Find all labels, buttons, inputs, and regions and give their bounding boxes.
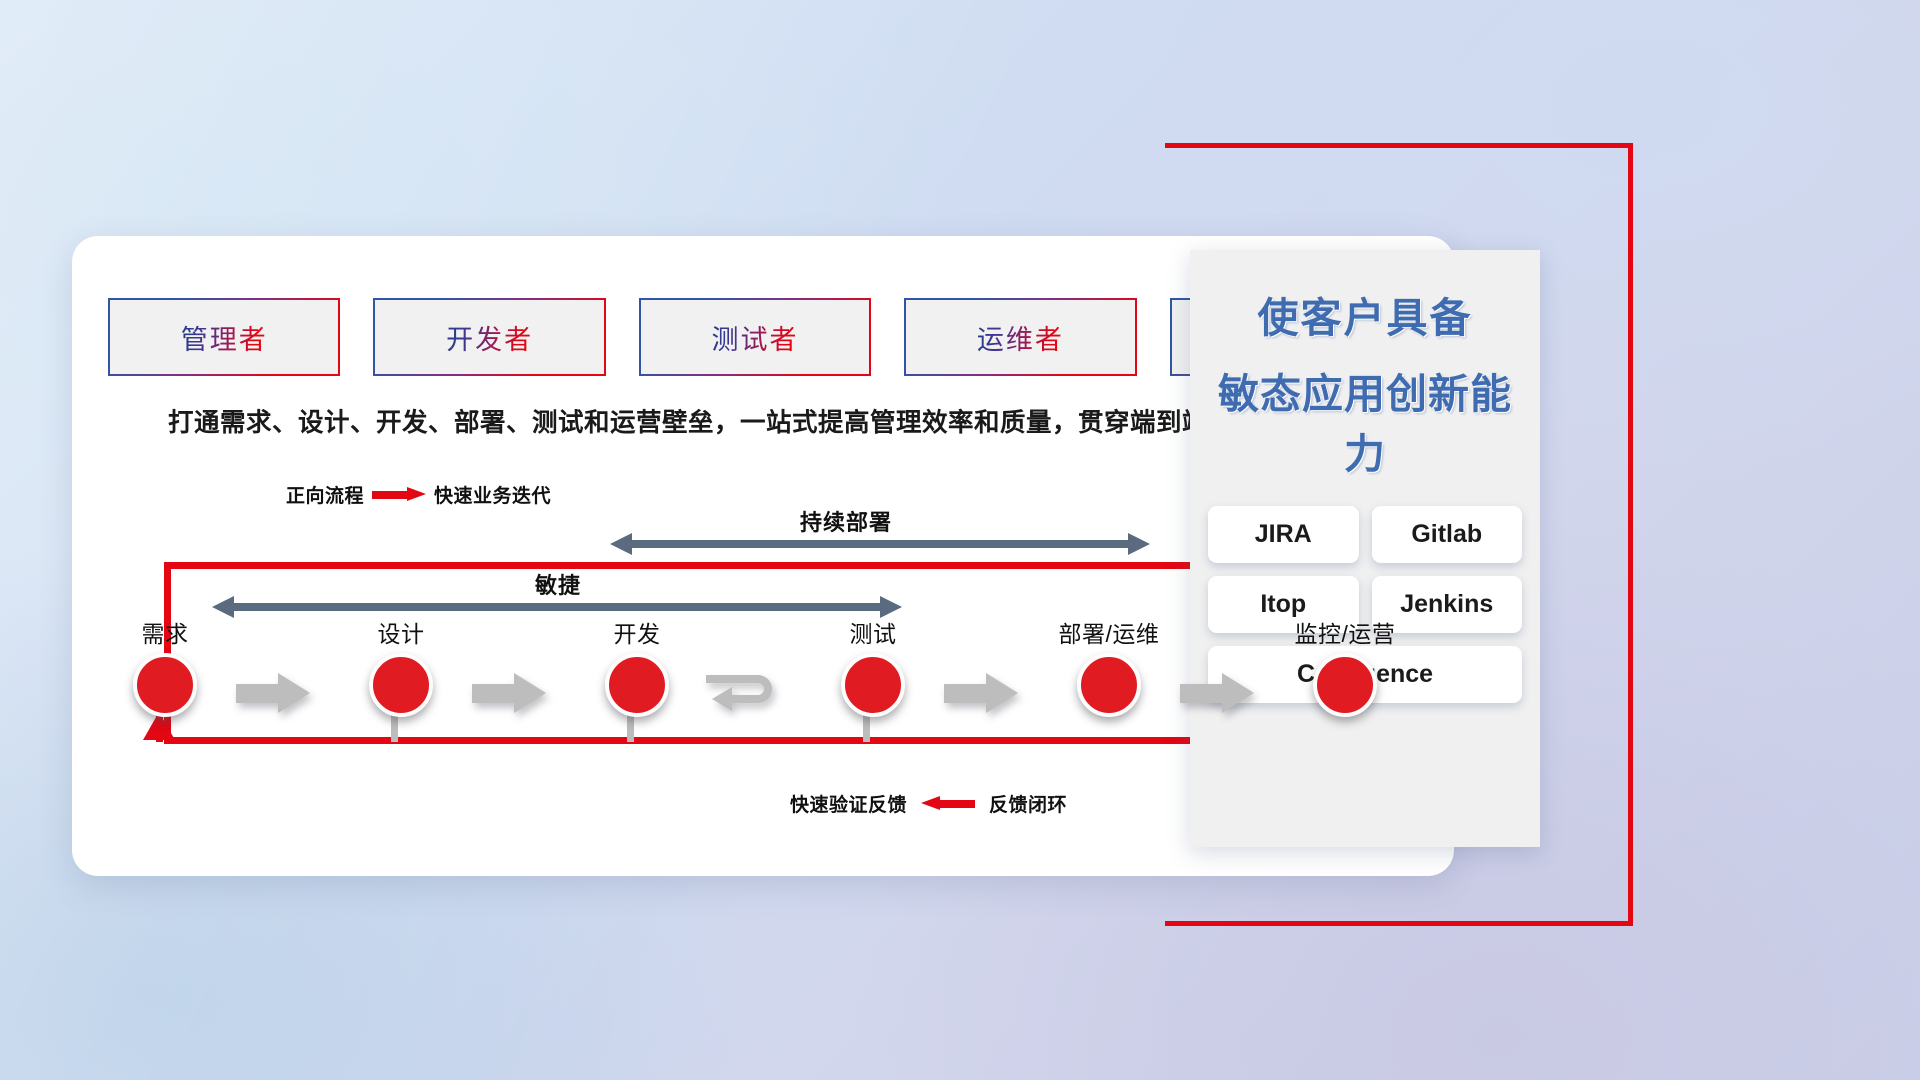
pipeline-node-1[interactable]: 设计 — [346, 615, 456, 717]
pipeline-connector-1 — [472, 673, 546, 713]
tool-chip-gitlab[interactable]: Gitlab — [1372, 506, 1523, 563]
role-label: 运维者 — [977, 318, 1064, 357]
feedback-right-label: 反馈闭环 — [989, 790, 1067, 817]
gray-arrow-right-icon — [1180, 673, 1254, 713]
role-box-3[interactable]: 运维者 — [906, 300, 1134, 374]
devops-pipeline: 需求 设计 开发 测试 部署/运维 — [110, 615, 1400, 735]
pipeline-node-dot — [369, 653, 433, 717]
pipeline-node-label: 设计 — [346, 615, 456, 649]
gray-loop-arrow-icon — [702, 661, 786, 717]
pipeline-node-0[interactable]: 需求 — [110, 615, 220, 717]
pipeline-node-label: 监控/运营 — [1290, 615, 1400, 649]
gray-arrow-right-icon — [472, 673, 546, 713]
pipeline-node-3[interactable]: 测试 — [818, 615, 928, 717]
pipeline-node-4[interactable]: 部署/运维 — [1054, 615, 1164, 717]
pipeline-node-label: 开发 — [582, 615, 692, 649]
pipeline-node-label: 需求 — [110, 615, 220, 649]
value-proposition-panel: 使客户具备 敏态应用创新能力 JIRA Gitlab Itop Jenkins … — [1190, 250, 1540, 847]
role-label: 测试者 — [712, 318, 799, 357]
pipeline-node-label: 部署/运维 — [1054, 615, 1164, 649]
role-label: 管理者 — [181, 318, 268, 357]
role-label: 开发者 — [446, 318, 533, 357]
pipeline-node-2[interactable]: 开发 — [582, 615, 692, 717]
pipeline-node-dot — [1077, 653, 1141, 717]
pipeline-node-label: 测试 — [818, 615, 928, 649]
pipeline-node-dot — [133, 653, 197, 717]
forward-flow-right-label: 快速业务迭代 — [434, 481, 551, 508]
pipeline-connector-4 — [1180, 673, 1254, 713]
gray-arrow-right-icon — [236, 673, 310, 713]
forward-flow-left-label: 正向流程 — [286, 481, 364, 508]
span-arrow-continuous-deploy — [610, 533, 1150, 555]
panel-title-line1: 使客户具备 — [1208, 284, 1522, 344]
red-arrow-left-icon — [921, 796, 975, 811]
tool-chip-jira[interactable]: JIRA — [1208, 506, 1359, 563]
pipeline-node-dot — [1313, 653, 1377, 717]
gray-arrow-right-icon — [944, 673, 1018, 713]
feedback-loop-legend: 快速验证反馈 反馈闭环 — [790, 790, 1067, 817]
pipeline-node-dot — [841, 653, 905, 717]
red-arrow-right-icon — [372, 487, 426, 502]
panel-title-line2: 敏态应用创新能力 — [1208, 360, 1522, 480]
role-box-0[interactable]: 管理者 — [110, 300, 338, 374]
role-box-1[interactable]: 开发者 — [375, 300, 603, 374]
pipeline-node-dot — [605, 653, 669, 717]
pipeline-connector-3 — [944, 673, 1018, 713]
pipeline-connector-2 — [702, 661, 786, 717]
forward-flow-legend: 正向流程 快速业务迭代 — [286, 481, 551, 508]
role-box-2[interactable]: 测试者 — [641, 300, 869, 374]
feedback-left-label: 快速验证反馈 — [790, 790, 907, 817]
pipeline-connector-0 — [236, 673, 310, 713]
pipeline-node-5[interactable]: 监控/运营 — [1290, 615, 1400, 717]
